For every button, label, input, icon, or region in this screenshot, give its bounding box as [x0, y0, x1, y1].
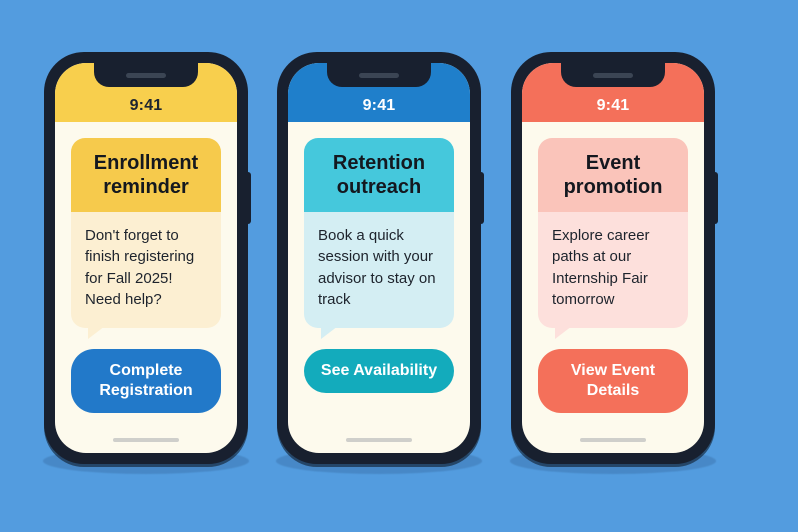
home-indicator[interactable] [522, 427, 704, 453]
speaker-grille-icon [126, 73, 166, 78]
home-bar-icon [580, 438, 646, 442]
notification-message: Book a quick session with your advisor t… [304, 212, 454, 328]
device-screen: 9:41 Enrollment reminder Don't forget to… [55, 63, 237, 453]
notification-title: Event promotion [538, 138, 688, 212]
speaker-grille-icon [359, 73, 399, 78]
phone-mockup-2: 9:41 Retention outreach Book a quick ses… [277, 52, 481, 464]
screen-content: Enrollment reminder Don't forget to fini… [55, 122, 237, 427]
status-time: 9:41 [363, 97, 396, 115]
status-time: 9:41 [597, 97, 630, 115]
notification-message: Explore career paths at our Internship F… [538, 212, 688, 328]
notification-bubble: Retention outreach Book a quick session … [304, 138, 454, 328]
notch [94, 63, 198, 87]
notification-message: Don't forget to finish registering for F… [71, 212, 221, 328]
device-screen: 9:41 Event promotion Explore career path… [522, 63, 704, 453]
status-time: 9:41 [130, 97, 163, 115]
notification-bubble: Event promotion Explore career paths at … [538, 138, 688, 328]
device-frame: 9:41 Enrollment reminder Don't forget to… [44, 52, 248, 464]
device-frame: 9:41 Retention outreach Book a quick ses… [277, 52, 481, 464]
status-bar: 9:41 [522, 63, 704, 122]
cta-button[interactable]: See Availability [304, 349, 454, 393]
power-button[interactable] [714, 172, 718, 224]
bubble-tail-icon [555, 326, 572, 339]
status-bar: 9:41 [288, 63, 470, 122]
phone-mockup-3: 9:41 Event promotion Explore career path… [511, 52, 715, 464]
speaker-grille-icon [593, 73, 633, 78]
bubble-tail-icon [88, 326, 105, 339]
screen-content: Event promotion Explore career paths at … [522, 122, 704, 427]
home-indicator[interactable] [288, 427, 470, 453]
notch [561, 63, 665, 87]
power-button[interactable] [480, 172, 484, 224]
home-indicator[interactable] [55, 427, 237, 453]
device-screen: 9:41 Retention outreach Book a quick ses… [288, 63, 470, 453]
home-bar-icon [113, 438, 179, 442]
scene-canvas: 9:41 Enrollment reminder Don't forget to… [0, 0, 798, 532]
notification-title: Retention outreach [304, 138, 454, 212]
notification-title: Enrollment reminder [71, 138, 221, 212]
device-frame: 9:41 Event promotion Explore career path… [511, 52, 715, 464]
home-bar-icon [346, 438, 412, 442]
notification-bubble: Enrollment reminder Don't forget to fini… [71, 138, 221, 328]
cta-button[interactable]: Complete Registration [71, 349, 221, 413]
status-bar: 9:41 [55, 63, 237, 122]
bubble-tail-icon [321, 326, 338, 339]
phone-mockup-1: 9:41 Enrollment reminder Don't forget to… [44, 52, 248, 464]
power-button[interactable] [247, 172, 251, 224]
screen-content: Retention outreach Book a quick session … [288, 122, 470, 427]
cta-button[interactable]: View Event Details [538, 349, 688, 413]
notch [327, 63, 431, 87]
